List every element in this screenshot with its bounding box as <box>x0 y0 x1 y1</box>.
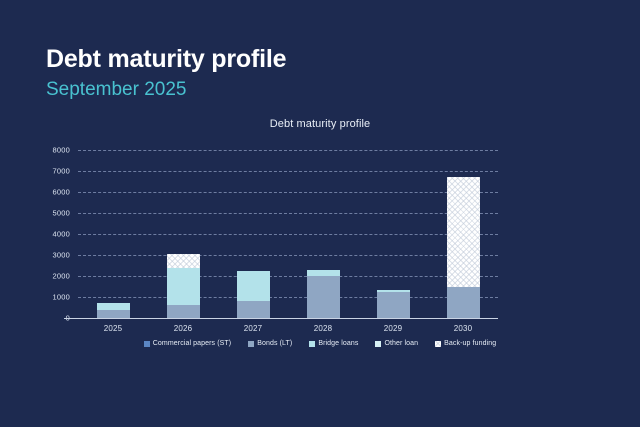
legend-swatch-icon <box>144 341 150 347</box>
bar-group-2025[interactable]: 2025 <box>97 150 130 318</box>
x-axis-tick-label: 2029 <box>377 324 410 333</box>
y-axis-tick-label: 8000 <box>53 146 71 155</box>
y-axis-tick-label: 7000 <box>53 167 71 176</box>
y-axis-tick-label: 5000 <box>53 209 71 218</box>
bar-segment[interactable] <box>167 305 200 318</box>
bar-group-2028[interactable]: 2028 <box>307 150 340 318</box>
y-axis-tick-label: 1000 <box>53 293 71 302</box>
y-axis-tick-label: 3000 <box>53 251 71 260</box>
bar-group-2027[interactable]: 2027 <box>237 150 270 318</box>
legend-swatch-icon <box>435 341 441 347</box>
chart-bars: 202520262027202820292030 <box>78 150 498 318</box>
bar-segment[interactable] <box>377 292 410 318</box>
legend-swatch-icon <box>309 341 315 347</box>
bar-segment[interactable] <box>447 287 480 319</box>
chart-container: Debt maturity profile 010002000300040005… <box>0 118 640 363</box>
chart-legend: Commercial papers (ST)Bonds (LT)Bridge l… <box>0 340 640 347</box>
legend-item[interactable]: Bonds (LT) <box>248 340 292 347</box>
bar-segment[interactable] <box>97 310 130 318</box>
bar-stack[interactable] <box>377 290 410 318</box>
legend-label: Back-up funding <box>444 340 496 347</box>
legend-item[interactable]: Commercial papers (ST) <box>144 340 231 347</box>
legend-swatch-icon <box>248 341 254 347</box>
page-subtitle: September 2025 <box>46 78 606 102</box>
page-title: Debt maturity profile <box>46 44 606 74</box>
y-axis-tick-label: 6000 <box>53 188 71 197</box>
bar-stack[interactable] <box>167 254 200 318</box>
slide-header: Debt maturity profile September 2025 <box>46 44 606 102</box>
bar-group-2029[interactable]: 2029 <box>377 150 410 318</box>
bar-segment[interactable] <box>307 276 340 318</box>
chart-x-axis-line <box>64 318 498 319</box>
legend-label: Other loan <box>384 340 418 347</box>
bar-stack[interactable] <box>307 270 340 318</box>
y-axis-tick-label: 4000 <box>53 230 71 239</box>
legend-item[interactable]: Back-up funding <box>435 340 496 347</box>
bar-segment[interactable] <box>167 254 200 268</box>
bar-stack[interactable] <box>97 303 130 318</box>
x-axis-tick-label: 2025 <box>97 324 130 333</box>
bar-segment[interactable] <box>447 177 480 286</box>
legend-item[interactable]: Other loan <box>375 340 418 347</box>
x-axis-tick-label: 2030 <box>447 324 480 333</box>
chart-title: Debt maturity profile <box>0 118 640 130</box>
bar-segment[interactable] <box>167 268 200 305</box>
bar-stack[interactable] <box>237 271 270 318</box>
x-axis-tick-label: 2027 <box>237 324 270 333</box>
legend-label: Commercial papers (ST) <box>153 340 231 347</box>
legend-label: Bridge loans <box>318 340 358 347</box>
bar-stack[interactable] <box>447 177 480 318</box>
legend-label: Bonds (LT) <box>257 340 292 347</box>
bar-group-2026[interactable]: 2026 <box>167 150 200 318</box>
legend-swatch-icon <box>375 341 381 347</box>
chart-plot-area: 010002000300040005000600070008000 202520… <box>78 150 498 318</box>
bar-segment[interactable] <box>237 271 270 301</box>
bar-segment[interactable] <box>237 301 270 318</box>
bar-segment[interactable] <box>97 303 130 310</box>
x-axis-tick-label: 2028 <box>307 324 340 333</box>
x-axis-tick-label: 2026 <box>167 324 200 333</box>
legend-item[interactable]: Bridge loans <box>309 340 358 347</box>
y-axis-tick-label: 2000 <box>53 272 71 281</box>
bar-group-2030[interactable]: 2030 <box>447 150 480 318</box>
